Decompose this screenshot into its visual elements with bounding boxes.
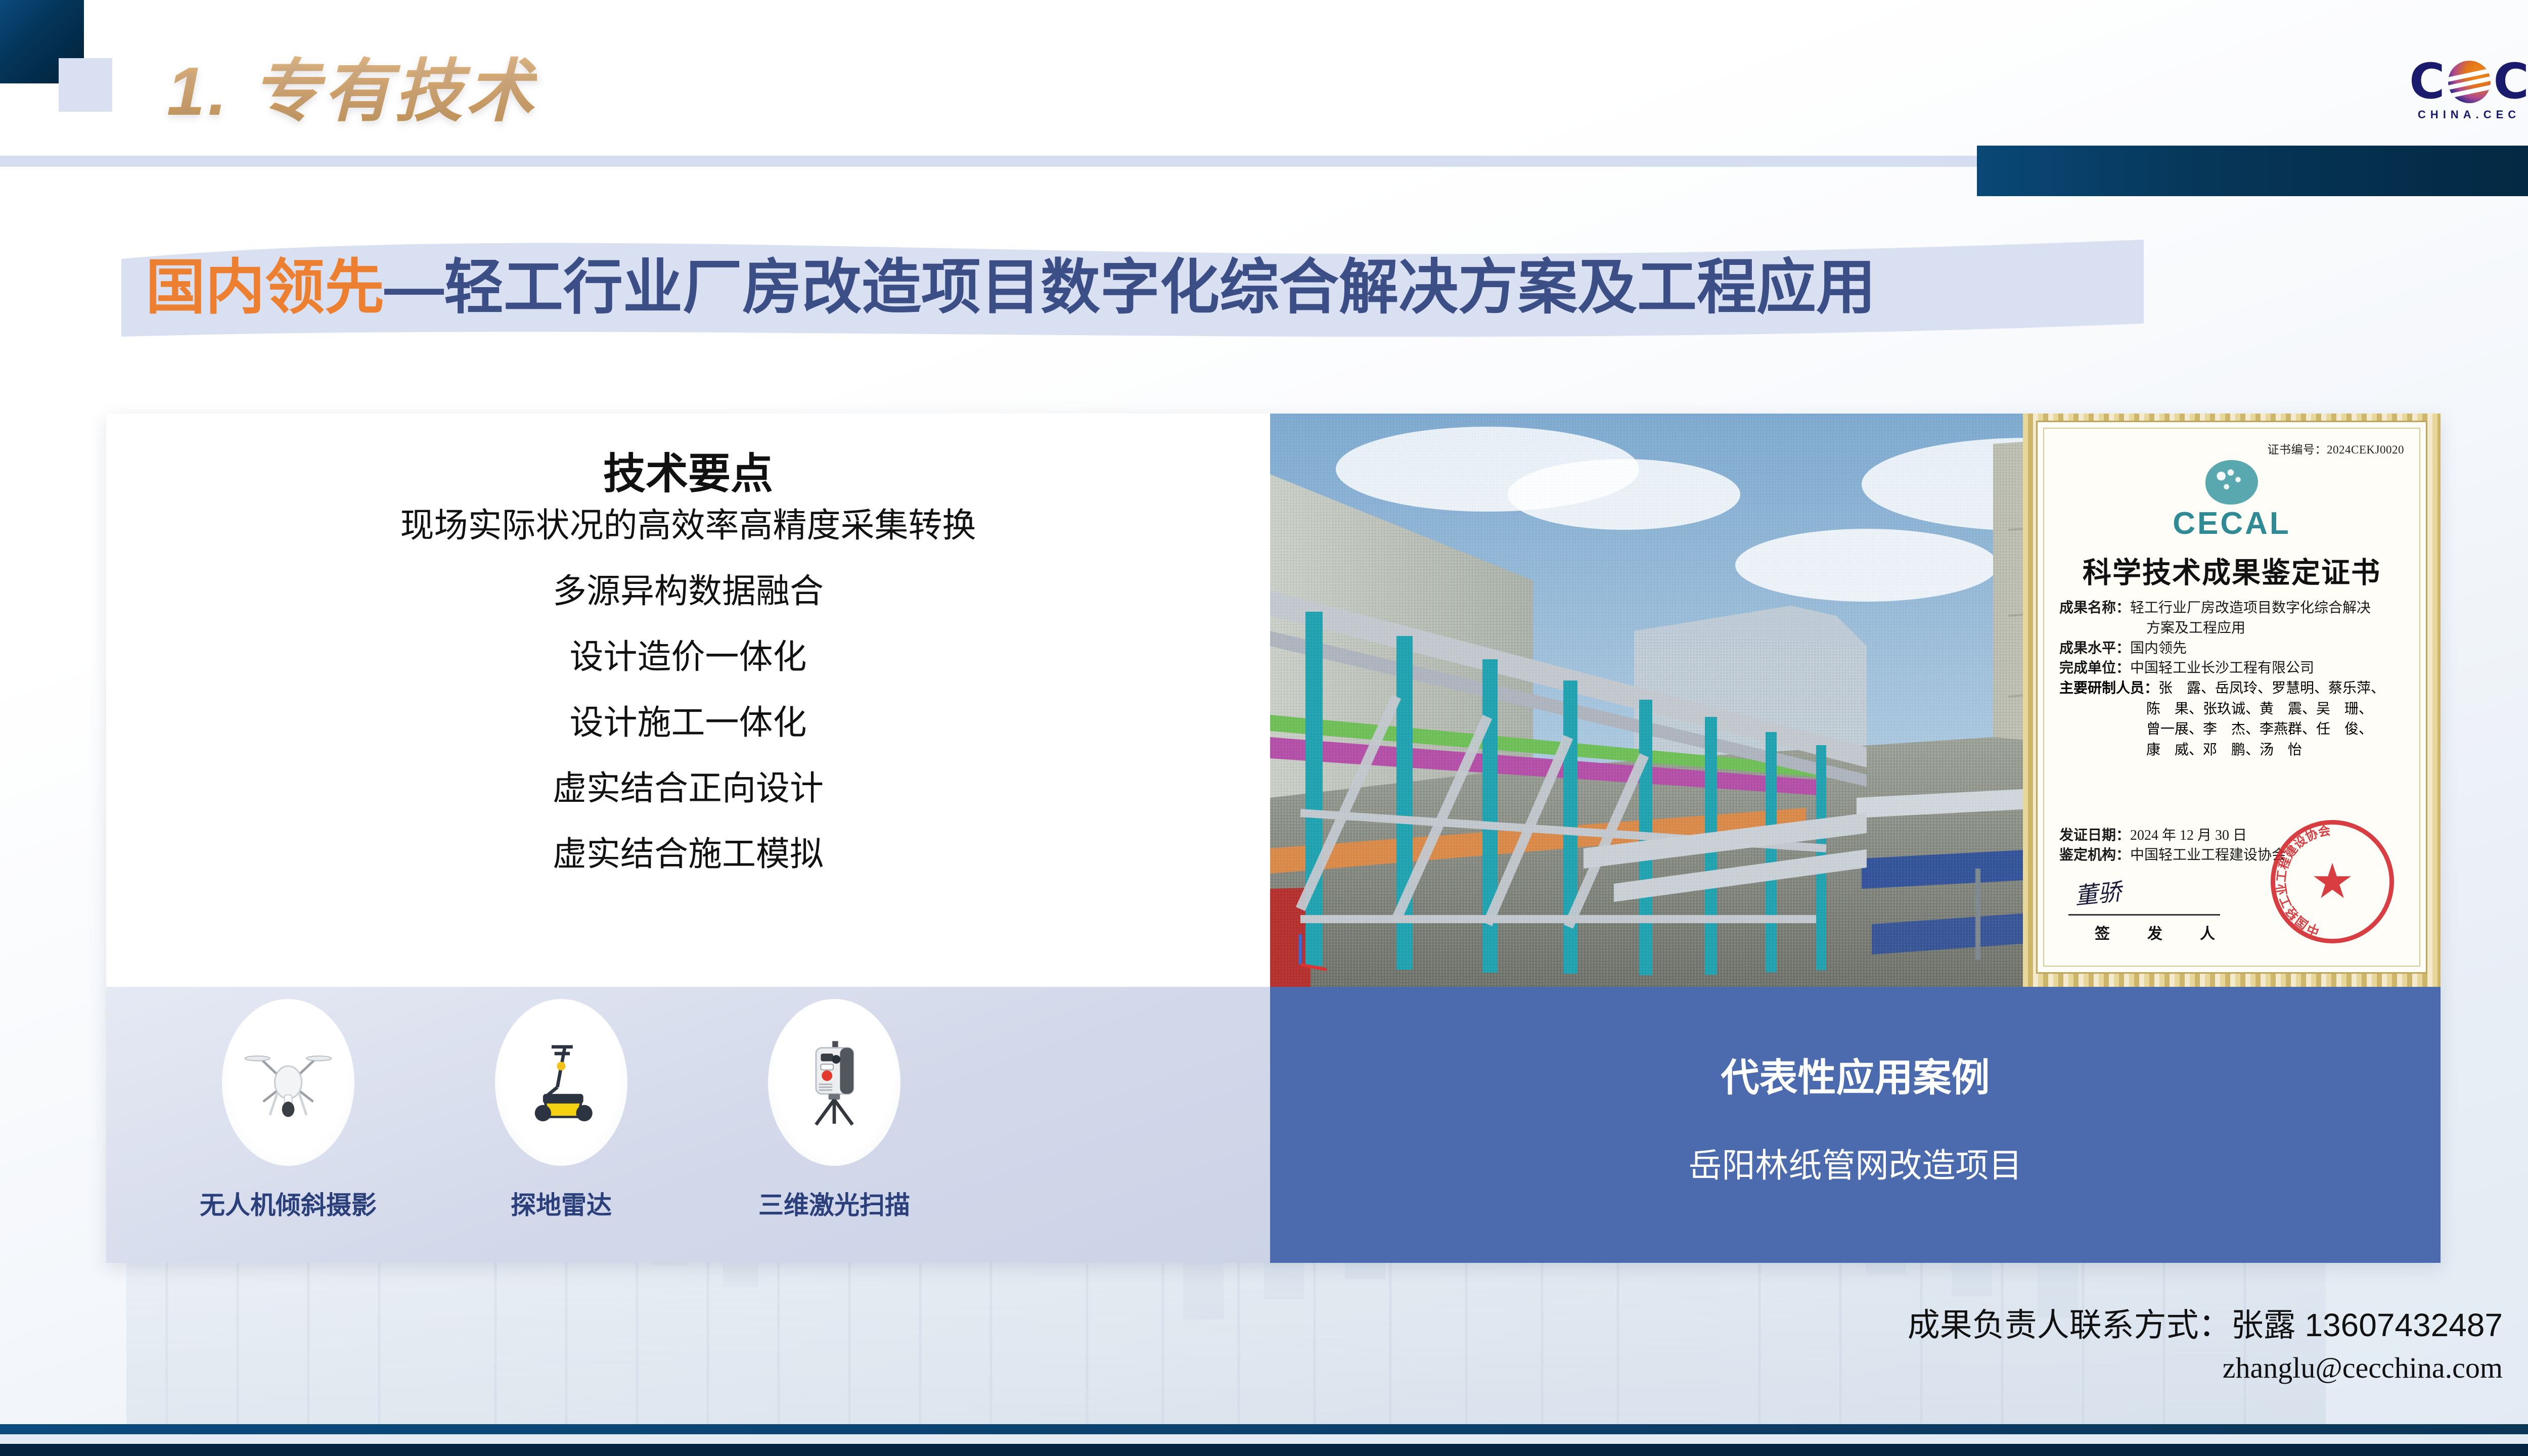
pointcloud-photo: 证书编号：2024CEKJ0020 CECAL 科学技术成果鉴定证书 成果名称：…: [1270, 414, 2441, 987]
cecal-wordmark: CECAL: [2059, 506, 2404, 541]
contact-block: 成果负责人联系方式：张露 13607432487 zhanglu@cecchin…: [1908, 1299, 2503, 1385]
tech-heading: 技术要点: [106, 440, 1270, 501]
title-banner: 国内领先—轻工行业厂房改造项目数字化综合解决方案及工程应用: [121, 238, 2144, 339]
case-heading: 代表性应用案例: [1270, 1046, 2441, 1102]
contact-line-2: zhanglu@cecchina.com: [1908, 1351, 2503, 1385]
tech-point: 多源异构数据融合: [106, 574, 1270, 608]
issue-date: 2024 年 12 月 30 日: [2130, 826, 2247, 846]
field-value: 轻工行业厂房改造项目数字化综合解决: [2130, 598, 2371, 618]
equipment-label: 探地雷达: [511, 1185, 612, 1221]
contact-line-1: 成果负责人联系方式：张露 13607432487: [1908, 1299, 2503, 1346]
header-lavender-block: [59, 58, 112, 112]
content-card: 技术要点 现场实际状况的高效率高精度采集转换 多源异构数据融合 设计造价一体化 …: [106, 414, 2441, 1263]
researcher-line: 曾一展、李 杰、李燕群、任 俊、: [2146, 721, 2373, 737]
globe-icon: [2448, 61, 2491, 103]
certificate-footer: 发证日期： 2024 年 12 月 30 日 鉴定机构： 中国轻工业工程建设协会…: [2059, 826, 2404, 951]
red-seal-icon: ★ 中国轻工业工程建设协会: [2271, 820, 2394, 943]
slide-root: 1. 专有技术 C C CHINA.CEC 国内领先—轻工行业厂房改造项目数字化…: [0, 0, 2528, 1456]
cecal-globe-icon: [2205, 460, 2258, 505]
certificate-researchers: 主要研制人员：张 露、岳凤玲、罗慧明、蔡乐萍、 陈 果、张玖诚、黄 震、吴 珊、…: [2059, 678, 2404, 760]
card-top-row: 技术要点 现场实际状况的高效率高精度采集转换 多源异构数据融合 设计造价一体化 …: [106, 414, 2441, 987]
signer-label: 签 发 人: [2095, 921, 2226, 943]
logo-mark: C C: [2409, 61, 2528, 103]
equipment-item-radar[interactable]: 探地雷达: [455, 999, 667, 1262]
org-label: 鉴定机构：: [2059, 845, 2130, 866]
footer-navy-bar: [0, 1444, 2528, 1456]
certificate-title: 科学技术成果鉴定证书: [2059, 550, 2404, 591]
certificate-number: 2024CEKJ0020: [2327, 443, 2404, 456]
issue-label: 发证日期：: [2059, 826, 2130, 846]
field-key: 成果名称：: [2059, 598, 2130, 618]
certificate-field: 成果水平： 国内领先: [2059, 639, 2404, 659]
org-value: 中国轻工业工程建设协会: [2130, 845, 2286, 866]
researcher-line: 张 露、岳凤玲、罗慧明、蔡乐萍、: [2158, 680, 2385, 696]
equipment-item-drone[interactable]: 无人机倾斜摄影: [182, 999, 394, 1262]
equipment-panel: 无人机倾斜摄影: [106, 987, 1270, 1263]
signature-rule: [2068, 914, 2220, 916]
equipment-icon-row: 无人机倾斜摄影: [106, 987, 1270, 1263]
logo-letter-right: C: [2494, 61, 2528, 103]
banner-lead: 国内领先: [146, 254, 384, 321]
certificate-image: 证书编号：2024CEKJ0020 CECAL 科学技术成果鉴定证书 成果名称：…: [2023, 414, 2441, 987]
case-panel: 代表性应用案例 岳阳林纸管网改造项目: [1270, 987, 2441, 1263]
field-value: 国内领先: [2130, 639, 2187, 659]
footer-light-strip: [0, 1434, 2528, 1444]
tech-points-list: 现场实际状况的高效率高精度采集转换 多源异构数据融合 设计造价一体化 设计施工一…: [106, 509, 1270, 903]
certificate-number-label: 证书编号：: [2268, 443, 2327, 456]
field-value: 中国轻工业长沙工程有限公司: [2130, 658, 2314, 678]
equipment-label: 三维激光扫描: [758, 1185, 910, 1221]
laser-scanner-icon: [768, 999, 900, 1166]
case-subtitle: 岳阳林纸管网改造项目: [1270, 1139, 2441, 1187]
logo-letter-left: C: [2409, 61, 2445, 103]
tech-points-panel: 技术要点 现场实际状况的高效率高精度采集转换 多源异构数据融合 设计造价一体化 …: [106, 414, 1270, 987]
tech-point: 设计施工一体化: [106, 706, 1270, 740]
drone-icon: [222, 999, 354, 1166]
footer-blue-bar: [0, 1424, 2528, 1434]
field-value: 方案及工程应用: [2146, 618, 2245, 639]
handwritten-signature-icon: 董骄: [2073, 873, 2123, 911]
researcher-line: 陈 果、张玖诚、黄 震、吴 珊、: [2146, 701, 2373, 717]
banner-text: 国内领先—轻工行业厂房改造项目数字化综合解决方案及工程应用: [146, 252, 1876, 325]
certificate-field: 方案及工程应用: [2059, 618, 2404, 639]
logo-subtitle: CHINA.CEC: [2418, 108, 2520, 121]
tech-point: 设计造价一体化: [106, 640, 1270, 674]
cecal-logo: CECAL: [2059, 460, 2404, 541]
banner-rest: —轻工行业厂房改造项目数字化综合解决方案及工程应用: [384, 254, 1876, 321]
certificate-signature-area: 董骄 签 发 人 ★ 中国轻工业工程建设协会: [2059, 875, 2404, 950]
tech-point: 虚实结合正向设计: [106, 771, 1270, 805]
certificate-field: 完成单位： 中国轻工业长沙工程有限公司: [2059, 658, 2404, 678]
tech-point: 虚实结合施工模拟: [106, 837, 1270, 871]
tech-point: 现场实际状况的高效率高精度采集转换: [106, 509, 1270, 542]
field-key: 成果水平：: [2059, 639, 2130, 659]
header-divider: [0, 156, 1977, 167]
researchers-label: 主要研制人员：: [2059, 680, 2158, 696]
page-title: 1. 专有技术: [167, 35, 537, 134]
cec-logo: C C CHINA.CEC: [2409, 61, 2528, 121]
card-bottom-row: 无人机倾斜摄影: [106, 987, 2441, 1263]
equipment-item-scanner[interactable]: 三维激光扫描: [728, 999, 940, 1262]
equipment-label: 无人机倾斜摄影: [200, 1185, 377, 1221]
certificate-number-line: 证书编号：2024CEKJ0020: [2059, 440, 2404, 457]
radar-cart-icon: [495, 999, 627, 1166]
researcher-line: 康 威、邓 鹏、汤 怡: [2146, 742, 2302, 758]
certificate-field: 成果名称： 轻工行业厂房改造项目数字化综合解决: [2059, 598, 2404, 618]
field-key: 完成单位：: [2059, 658, 2130, 678]
header-right-navy-block: [1977, 146, 2528, 196]
seal-text: 中国轻工业工程建设协会: [2275, 825, 2389, 939]
